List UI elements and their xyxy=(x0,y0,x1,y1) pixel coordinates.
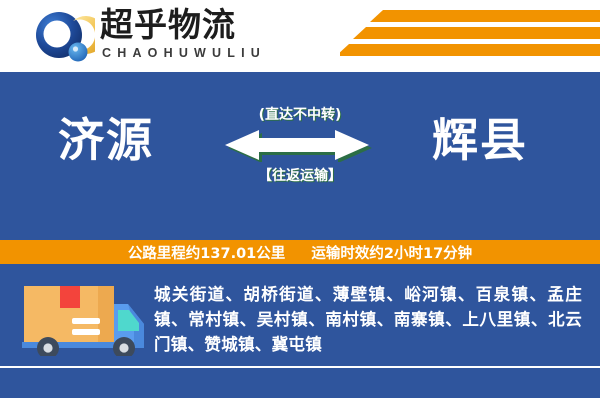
direct-route-note: (直达不中转) xyxy=(200,106,400,124)
service-areas-panel: 城关街道、胡桥街道、薄壁镇、峪河镇、百泉镇、孟庄镇、常村镇、吴村镇、南村镇、南寨… xyxy=(0,266,600,366)
brand-name-cn: 超乎物流 xyxy=(100,7,280,43)
route-middle: (直达不中转) 【往返运输】 xyxy=(200,106,400,185)
company-logo xyxy=(33,11,95,63)
poster-header: 超乎物流 CHAOHUWULIU xyxy=(0,0,600,70)
delivery-truck-icon xyxy=(16,280,148,361)
poster-footer xyxy=(0,368,600,398)
route-panel: 济源 (直达不中转) 【往返运输】 辉县 xyxy=(0,70,600,238)
metrics-line: 公路里程约137.01公里 运输时效约2小时17分钟 xyxy=(128,242,472,263)
distance-value: 公路里程约137.01公里 xyxy=(128,246,285,262)
round-trip-note: 【往返运输】 xyxy=(200,167,400,185)
logistics-route-poster: 超乎物流 CHAOHUWULIU 济源 (直达不中转) xyxy=(0,0,600,400)
double-headed-arrow-icon xyxy=(225,128,375,162)
orange-stripes-decoration xyxy=(340,0,600,70)
brand-name-en: CHAOHUWULIU xyxy=(100,46,280,61)
service-areas-list: 城关街道、胡桥街道、薄壁镇、峪河镇、百泉镇、孟庄镇、常村镇、吴村镇、南村镇、南寨… xyxy=(154,282,582,357)
destination-city: 辉县 xyxy=(432,112,528,168)
brand-block: 超乎物流 CHAOHUWULIU xyxy=(100,7,280,61)
origin-city: 济源 xyxy=(58,112,154,168)
metrics-bar: 公路里程约137.01公里 运输时效约2小时17分钟 xyxy=(0,238,600,266)
circular-q-logo-icon xyxy=(33,11,95,63)
duration-value: 运输时效约2小时17分钟 xyxy=(311,246,472,262)
